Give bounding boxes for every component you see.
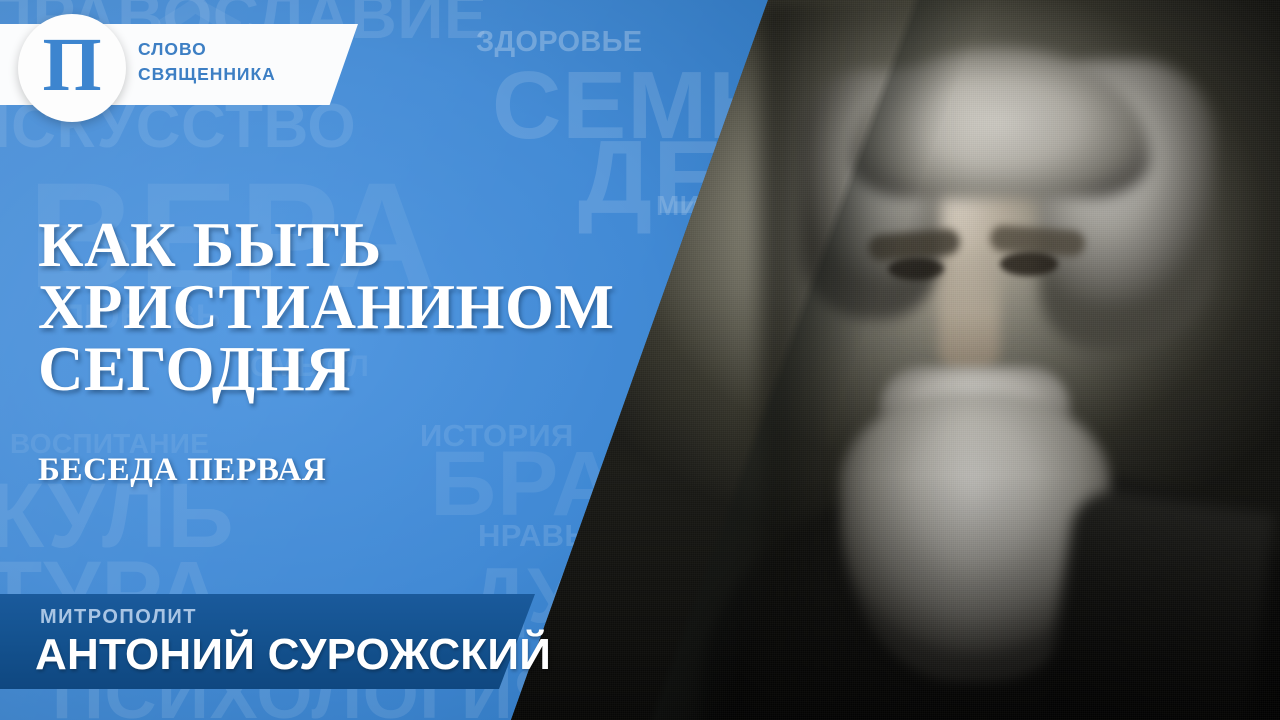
brand-logo: П	[18, 14, 126, 122]
page-title: КАК БЫТЬ ХРИСТИАНИНОМ СЕГОДНЯ	[38, 214, 678, 400]
title-line-1: КАК БЫТЬ	[38, 214, 678, 276]
speaker-name: АНТОНИЙ СУРОЖСКИЙ	[35, 630, 551, 680]
page-subtitle: БЕСЕДА ПЕРВАЯ	[38, 452, 326, 488]
video-thumbnail: ПРАВОСЛАВИЕИСКУССТВОВЕРАЗДОРОВЬЕСЕМЬЯДЕТ…	[0, 0, 1280, 720]
brand-banner-line1: СЛОВО	[138, 37, 276, 62]
title-line-3: СЕГОДНЯ	[38, 338, 678, 400]
orthodox-p-monogram-icon: П	[42, 27, 101, 103]
brand-banner-text: СЛОВО СВЯЩЕННИКА	[138, 37, 276, 87]
title-line-2: ХРИСТИАНИНОМ	[38, 276, 678, 338]
speaker-rank: МИТРОПОЛИТ	[40, 606, 197, 629]
brand-banner-line2: СВЯЩЕННИКА	[138, 62, 276, 87]
